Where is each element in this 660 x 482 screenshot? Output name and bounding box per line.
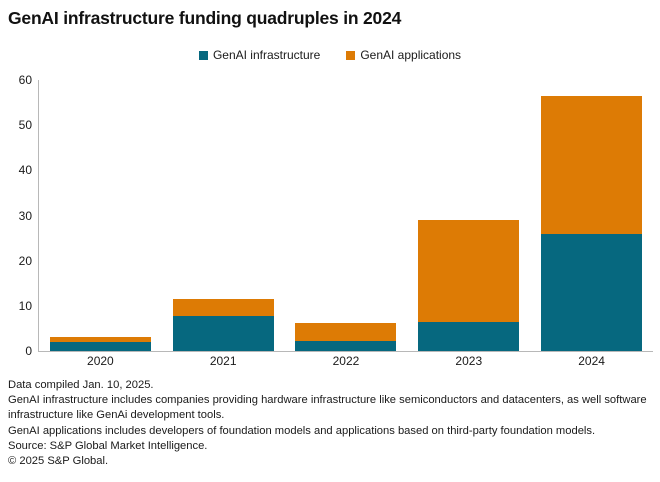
bar-stack[interactable] (173, 299, 274, 351)
square-swatch-icon (199, 51, 208, 60)
bar-segment[interactable] (173, 299, 274, 317)
x-axis-tick-label: 2022 (295, 354, 396, 368)
bar-segment[interactable] (295, 341, 396, 351)
y-axis: 0102030405060 (0, 70, 32, 351)
y-axis-tick-label: 50 (19, 118, 32, 132)
bar-stack[interactable] (418, 220, 519, 351)
bar-group-2023 (418, 80, 519, 351)
y-axis-tick-label: 20 (19, 254, 32, 268)
y-axis-tick-label: 40 (19, 163, 32, 177)
x-axis-tick-label: 2023 (418, 354, 519, 368)
bar-stack[interactable] (541, 96, 642, 351)
square-swatch-icon (346, 51, 355, 60)
footnote-line: © 2025 S&P Global. (8, 454, 648, 469)
chart-legend: GenAI infrastructure GenAI applications (0, 48, 660, 62)
bar-segment[interactable] (50, 342, 151, 351)
chart-footnotes: Data compiled Jan. 10, 2025.GenAI infras… (8, 378, 648, 469)
bar-segment[interactable] (295, 323, 396, 341)
legend-label: GenAI infrastructure (213, 48, 320, 62)
x-axis-line (38, 351, 653, 352)
x-axis-tick-label: 2020 (50, 354, 151, 368)
footnote-line: Data compiled Jan. 10, 2025. (8, 378, 648, 393)
x-axis-tick-label: 2024 (541, 354, 642, 368)
bar-series-container (39, 80, 653, 351)
x-axis-tick-label: 2021 (173, 354, 274, 368)
legend-label: GenAI applications (360, 48, 461, 62)
bar-segment[interactable] (418, 322, 519, 351)
bar-stack[interactable] (295, 323, 396, 351)
bar-group-2021 (173, 80, 274, 351)
y-axis-tick-label: 0 (25, 344, 32, 358)
y-axis-tick-label: 60 (19, 73, 32, 87)
legend-item-genai-applications[interactable]: GenAI applications (346, 48, 461, 62)
bar-segment[interactable] (541, 234, 642, 351)
bar-stack[interactable] (50, 337, 151, 351)
bar-group-2020 (50, 80, 151, 351)
legend-item-genai-infrastructure[interactable]: GenAI infrastructure (199, 48, 320, 62)
bar-group-2022 (295, 80, 396, 351)
footnote-line: GenAI applications includes developers o… (8, 424, 648, 439)
x-axis: 20202021202220232024 (39, 354, 653, 368)
chart-plot-area: 0102030405060 20202021202220232024 (0, 70, 660, 370)
y-axis-tick-label: 10 (19, 299, 32, 313)
bar-group-2024 (541, 80, 642, 351)
bar-segment[interactable] (173, 316, 274, 351)
y-axis-tick-label: 30 (19, 209, 32, 223)
page-title: GenAI infrastructure funding quadruples … (8, 8, 401, 29)
footnote-line: GenAI infrastructure includes companies … (8, 393, 648, 423)
bar-segment[interactable] (541, 96, 642, 234)
bar-segment[interactable] (418, 220, 519, 322)
footnote-line: Source: S&P Global Market Intelligence. (8, 439, 648, 454)
